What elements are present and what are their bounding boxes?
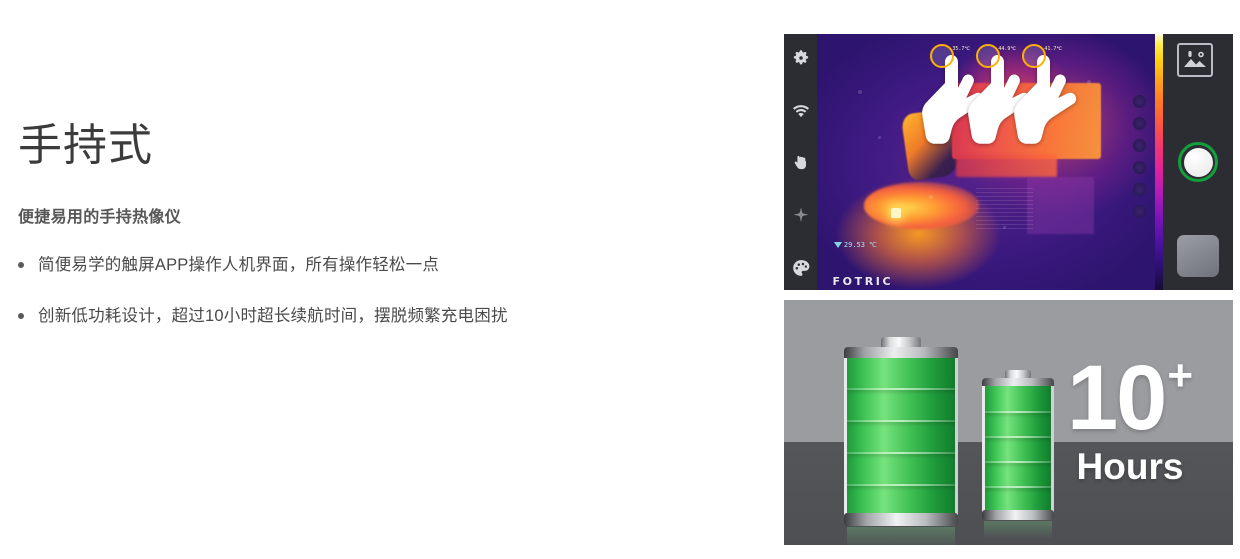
list-item: 简便易学的触屏APP操作人机界面，所有操作轻松一点 bbox=[18, 251, 598, 280]
pcb-chip-lines bbox=[976, 188, 1033, 229]
pcb-speck bbox=[878, 136, 881, 139]
list-item-text: 简便易学的触屏APP操作人机界面，所有操作轻松一点 bbox=[38, 256, 439, 274]
thermal-image-view[interactable]: 35.7℃ 44.9℃ 41.7℃ bbox=[817, 34, 1155, 290]
gallery-icon[interactable] bbox=[1177, 43, 1213, 77]
battery-hours-number: 10 bbox=[1067, 352, 1165, 444]
palette-icon[interactable] bbox=[791, 258, 811, 278]
pcb-hotspot bbox=[891, 208, 901, 218]
cursor-temperature-readout: 29.53 ℃ bbox=[834, 241, 877, 249]
feature-list: 简便易学的触屏APP操作人机界面，所有操作轻松一点 创新低功耗设计，超过10小时… bbox=[18, 251, 638, 331]
battery-reflection bbox=[847, 527, 954, 545]
pcb-connector-rail bbox=[1133, 95, 1148, 228]
page-title: 手持式 bbox=[18, 118, 638, 173]
settings-icon[interactable] bbox=[791, 48, 811, 68]
shutter-button[interactable] bbox=[1178, 142, 1218, 182]
battery-body bbox=[844, 358, 958, 518]
list-item: 创新低功耗设计，超过10小时超长续航时间，摆脱频繁充电困扰 bbox=[18, 302, 598, 331]
section-subtitle: 便捷易用的手持热像仪 bbox=[18, 203, 638, 227]
temperature-colorbar: 77.55 29.53 bbox=[1155, 34, 1163, 290]
colorbar-gradient bbox=[1155, 34, 1163, 290]
cursor-temperature-value: 29.53 ℃ bbox=[844, 241, 877, 249]
measure-spot-label: 44.9℃ bbox=[998, 46, 1016, 52]
battery-bottom-rim bbox=[982, 510, 1054, 520]
hand-icon[interactable] bbox=[791, 153, 811, 173]
bullet-dot-icon bbox=[18, 313, 24, 319]
battery-hours-number-row: 10 + bbox=[1045, 352, 1215, 444]
wifi-icon[interactable] bbox=[791, 101, 811, 121]
pcb-warm-region bbox=[864, 182, 979, 228]
battery-large-icon bbox=[844, 337, 958, 532]
battery-body bbox=[982, 386, 1054, 514]
touch-gesture-overlay: 35.7℃ 44.9℃ 41.7℃ bbox=[918, 44, 1073, 177]
promo-page: 手持式 便捷易用的手持热像仪 简便易学的触屏APP操作人机界面，所有操作轻松一点… bbox=[0, 0, 1240, 559]
battery-small-icon bbox=[982, 370, 1054, 535]
measure-spot-label: 41.7℃ bbox=[1044, 46, 1062, 52]
battery-hours-plus: + bbox=[1167, 354, 1193, 398]
battery-hours-text: 10 + Hours bbox=[1045, 352, 1215, 488]
measure-spot-label: 35.7℃ bbox=[952, 46, 970, 52]
cursor-marker-icon bbox=[834, 242, 842, 248]
pcb-speck bbox=[1003, 226, 1006, 229]
pcb-block-region bbox=[1027, 177, 1095, 233]
bullet-dot-icon bbox=[18, 262, 24, 268]
focus-icon[interactable] bbox=[791, 206, 811, 226]
battery-life-graphic: 10 + Hours bbox=[784, 300, 1233, 545]
thumbnail-button[interactable] bbox=[1177, 235, 1219, 277]
shutter-core bbox=[1184, 148, 1213, 177]
thermal-sidebar bbox=[784, 34, 817, 290]
pcb-speck bbox=[858, 90, 862, 94]
thermal-control-rail bbox=[1163, 34, 1233, 290]
battery-hours-unit: Hours bbox=[1045, 446, 1215, 488]
text-column: 手持式 便捷易用的手持热像仪 简便易学的触屏APP操作人机界面，所有操作轻松一点… bbox=[18, 118, 638, 353]
list-item-text: 创新低功耗设计，超过10小时超长续航时间，摆脱频繁充电困扰 bbox=[38, 307, 508, 325]
touch-hand-icon bbox=[1010, 50, 1086, 158]
pcb-speck bbox=[929, 195, 933, 199]
fotric-logo: FOTRIC bbox=[833, 275, 894, 288]
thermal-camera-screenshot: 35.7℃ 44.9℃ 41.7℃ bbox=[784, 34, 1233, 290]
battery-reflection bbox=[984, 521, 1052, 539]
battery-bottom-rim bbox=[844, 513, 958, 526]
